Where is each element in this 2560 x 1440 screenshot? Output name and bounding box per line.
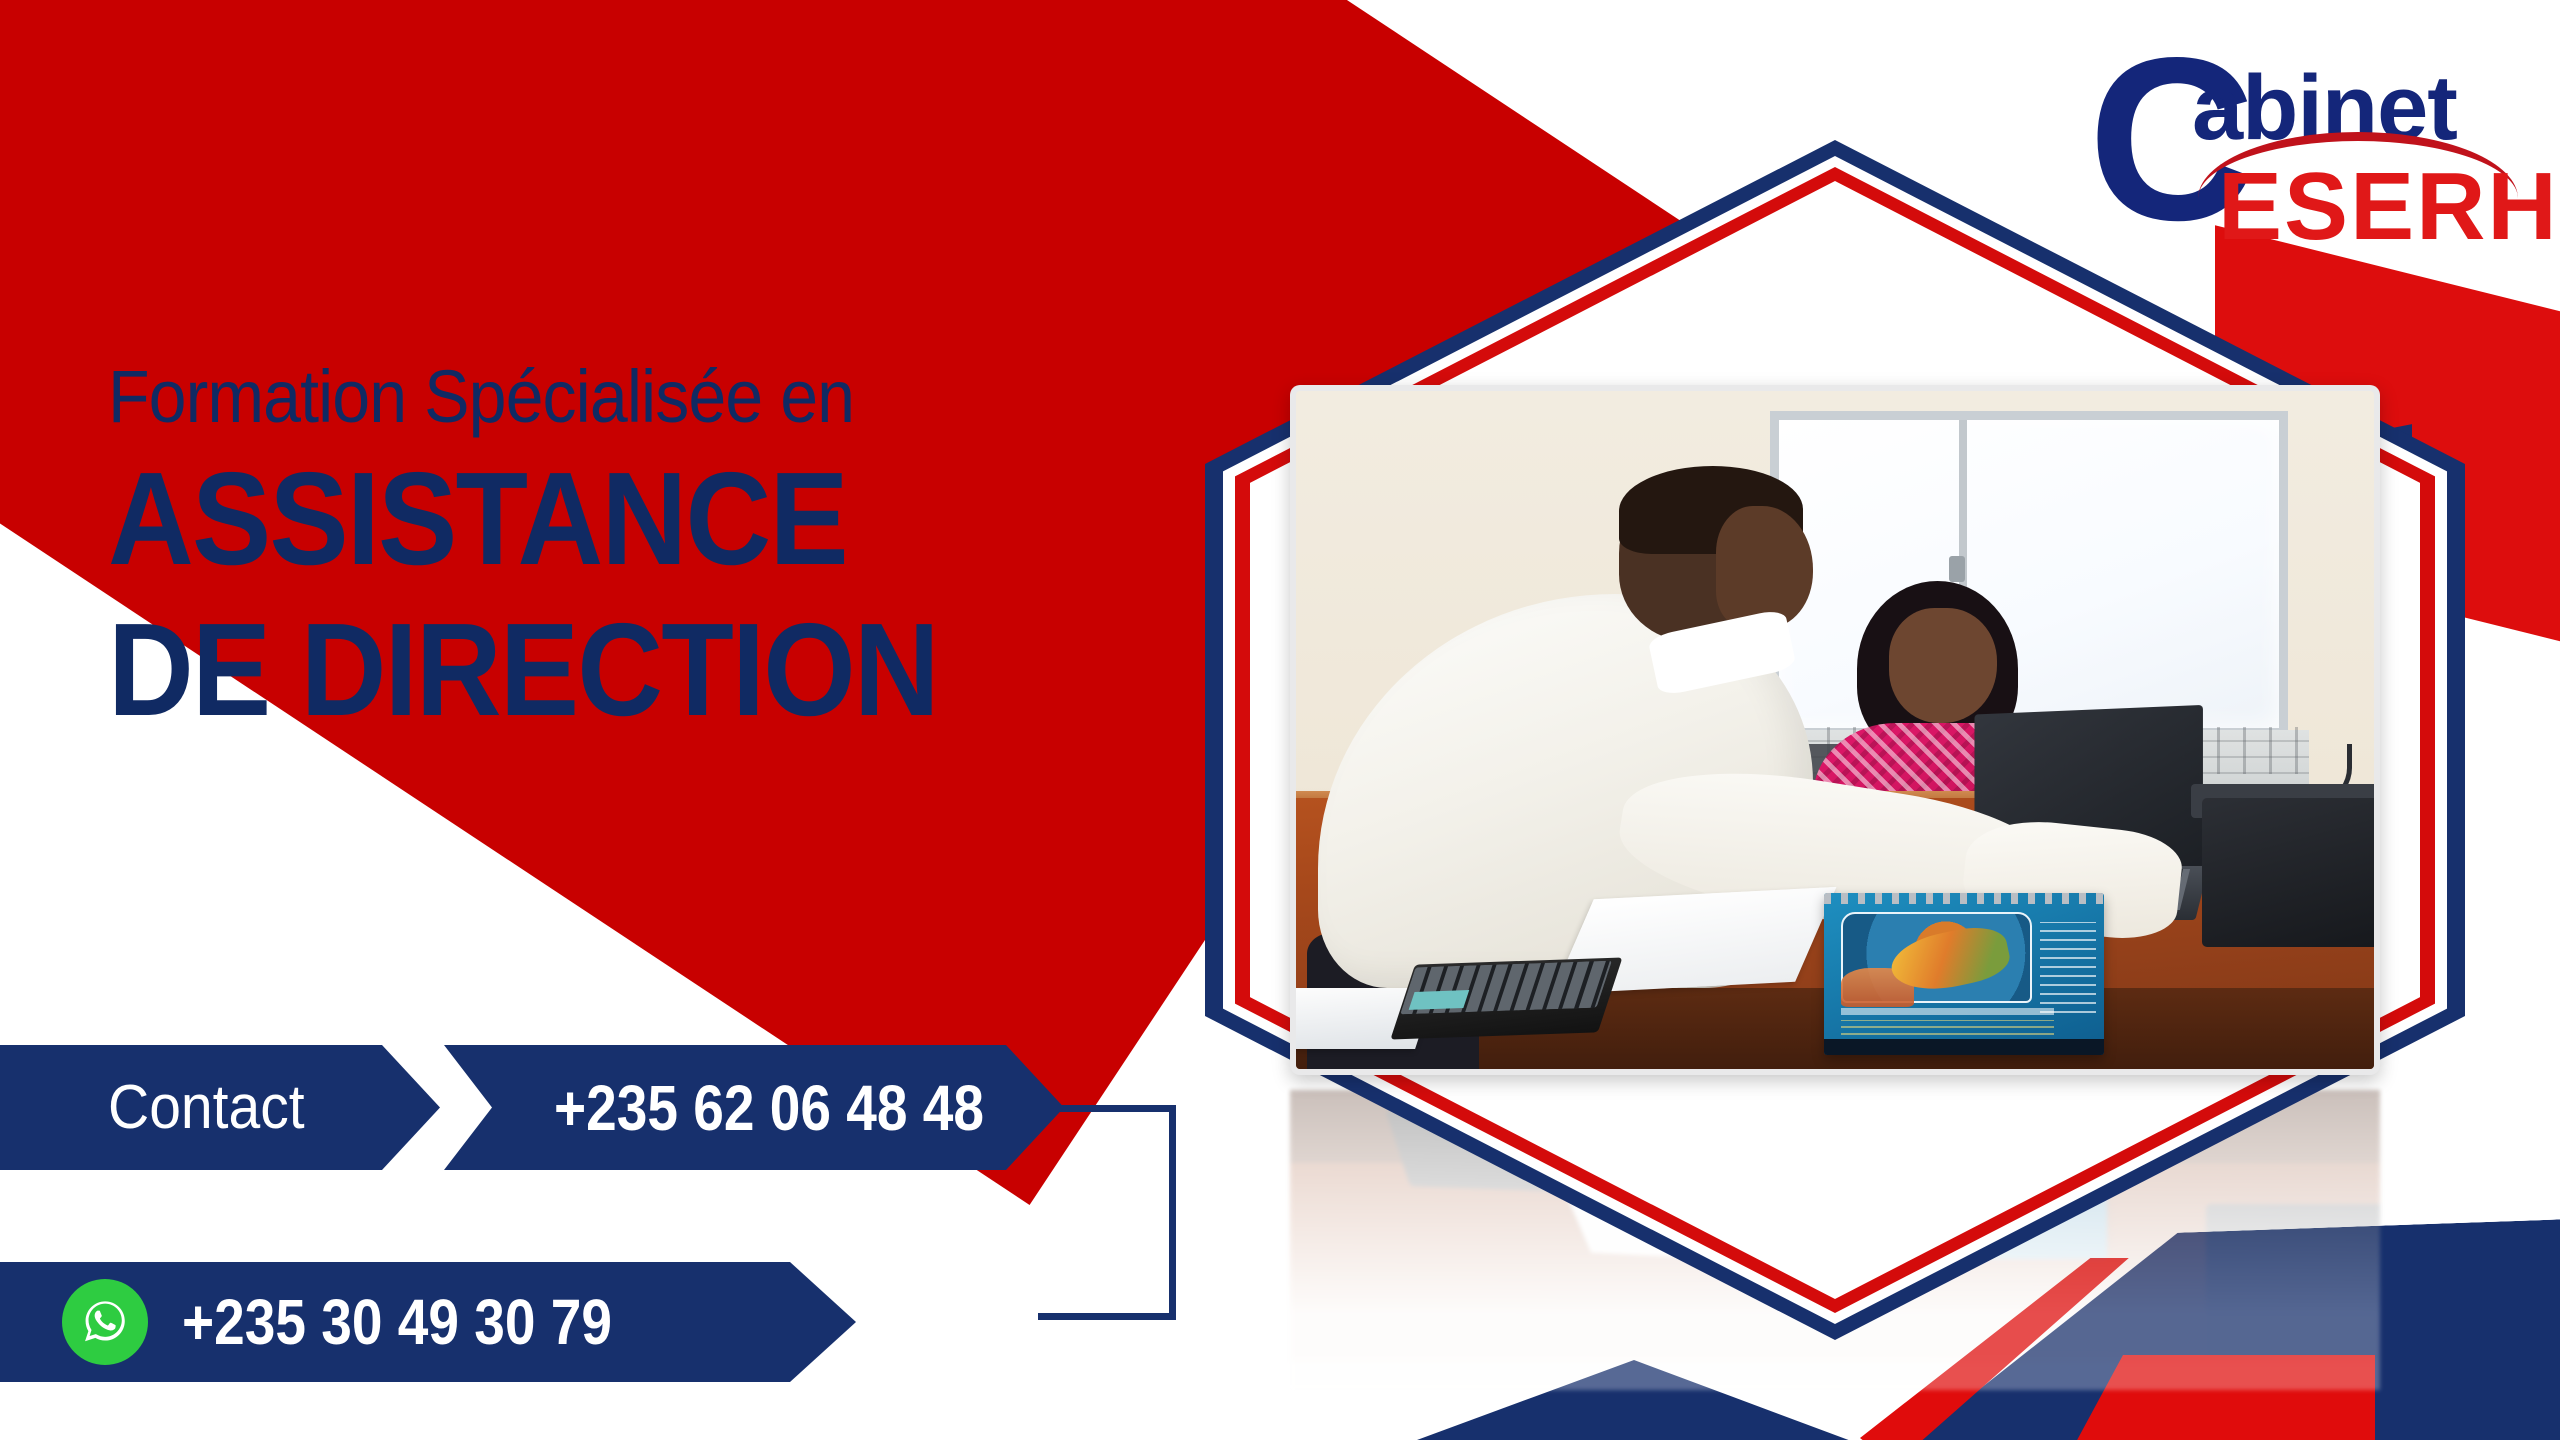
headline-kicker: Formation Spécialisée en: [108, 360, 1120, 434]
headline-title-line-1: ASSISTANCE: [108, 450, 1098, 587]
printer: [2202, 798, 2374, 947]
calendar-spiral-binding: [1824, 893, 2104, 904]
office-photo: [1296, 391, 2374, 1069]
calendar-month-grid: [2040, 922, 2096, 1013]
cabinet-ceserh-logo: C abinet ESERH: [2088, 28, 2518, 248]
navy-bottom-wedge: [1200, 1360, 1900, 1440]
hexagon-photo-frame: [1205, 140, 2465, 1340]
promotional-flyer: C abinet ESERH Formation Spécialisée en …: [0, 0, 2560, 1440]
whatsapp-icon[interactable]: [62, 1279, 148, 1365]
whatsapp-banner[interactable]: +235 30 49 30 79: [0, 1262, 880, 1382]
desk-calendar: [1824, 893, 2104, 1056]
contact-phone-number[interactable]: +235 62 06 48 48: [554, 1071, 984, 1145]
whatsapp-number[interactable]: +235 30 49 30 79: [182, 1285, 612, 1359]
calendar-caption-bar: [1841, 1008, 2054, 1015]
logo-word-eserh: ESERH: [2218, 152, 2559, 262]
woman-face: [1889, 608, 1997, 723]
headline-title-line-2: DE DIRECTION: [108, 601, 1098, 738]
photo-window: [1770, 411, 2287, 736]
calendar-base: [1824, 1039, 2104, 1055]
contact-label: Contact: [108, 1072, 305, 1143]
contact-banner-row: Contact +235 62 06 48 48: [0, 1045, 1180, 1170]
headline-block: Formation Spécialisée en ASSISTANCE DE D…: [108, 360, 1208, 739]
photo-card: [1290, 385, 2380, 1075]
man-face: [1716, 506, 1813, 628]
contact-phone-chevron[interactable]: +235 62 06 48 48: [444, 1045, 1064, 1170]
contact-label-chevron: Contact: [0, 1045, 440, 1170]
calculator-teal-keys: [1409, 990, 1469, 1009]
window-latch: [1949, 556, 1965, 582]
